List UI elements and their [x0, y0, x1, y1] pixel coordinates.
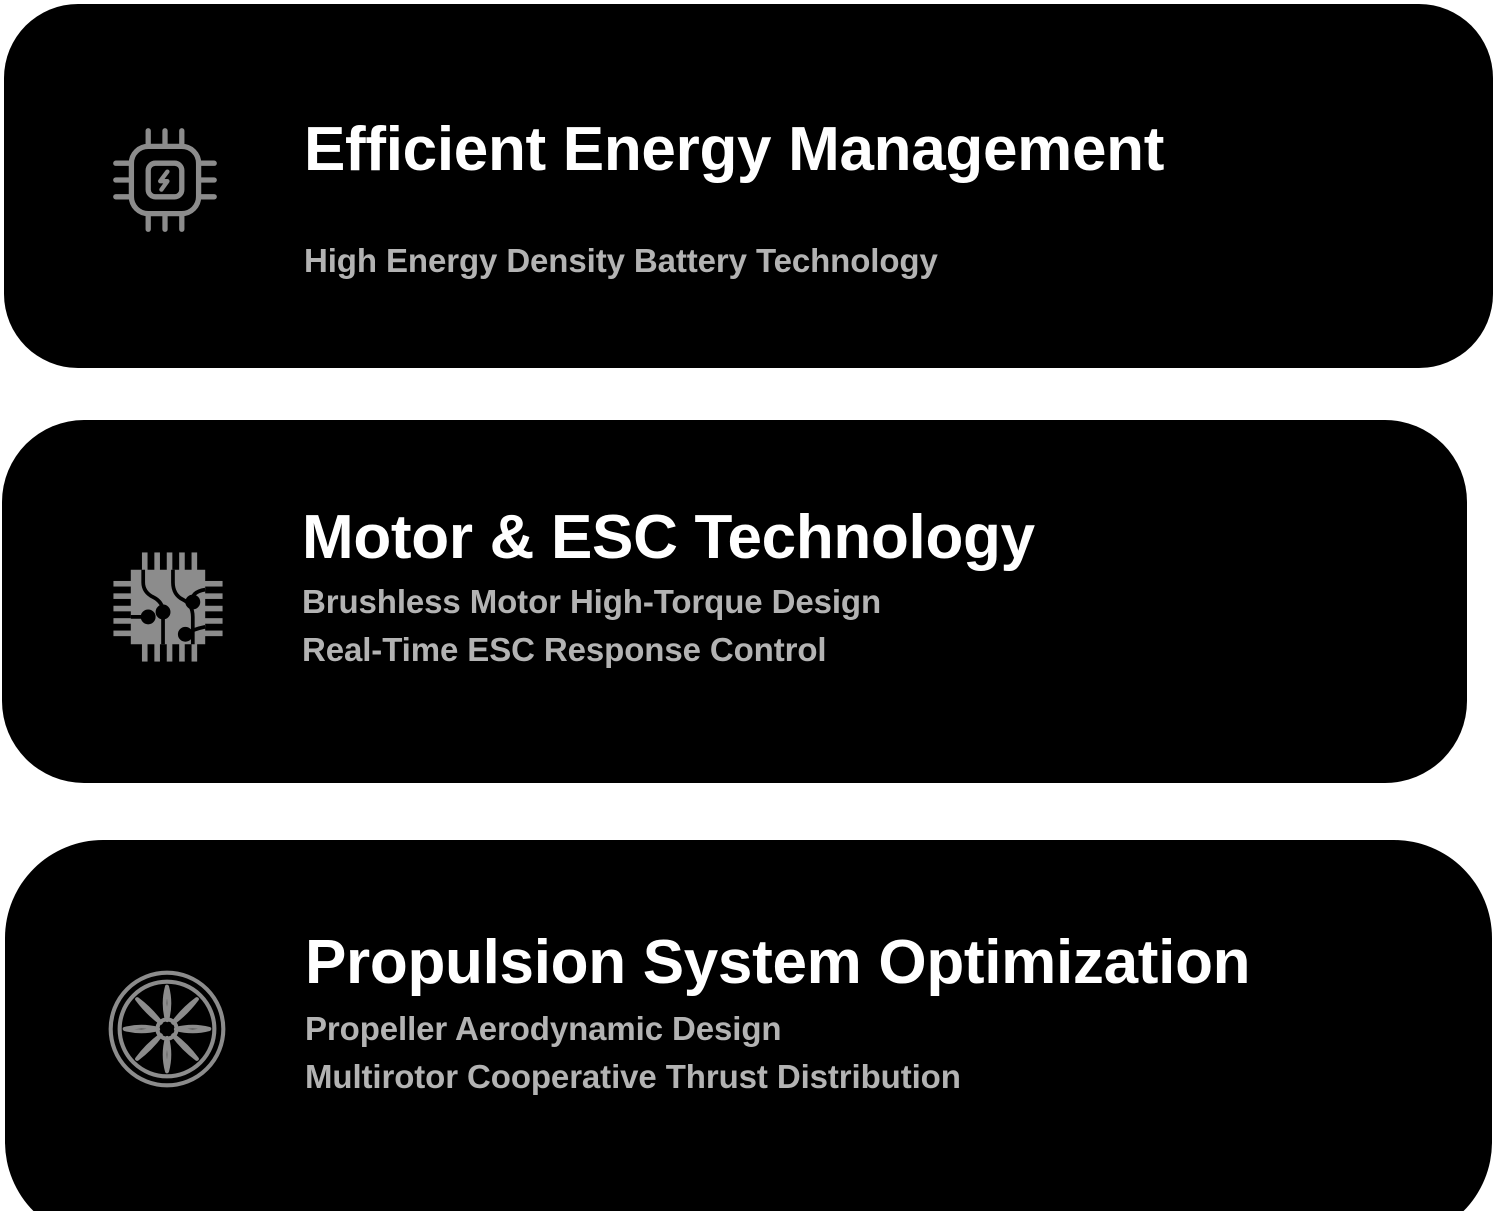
feature-card-stack: Efficient Energy Management High Energy … — [0, 0, 1497, 1211]
card-subtitle: Propeller Aerodynamic Design — [305, 1005, 1250, 1053]
card-subtitle-list: Brushless Motor High-Torque Design Real-… — [302, 578, 1035, 674]
cpu-power-chip-icon — [105, 120, 225, 240]
feature-card-motor-esc-technology[interactable]: Motor & ESC Technology Brushless Motor H… — [2, 420, 1467, 783]
card-title: Motor & ESC Technology — [302, 505, 1035, 572]
feature-card-propulsion-system-optimization[interactable]: Propulsion System Optimization Propeller… — [5, 840, 1492, 1211]
card-text-block: Motor & ESC Technology Brushless Motor H… — [302, 505, 1035, 674]
card-text-block: Propulsion System Optimization Propeller… — [305, 930, 1250, 1101]
card-subtitle-list: Propeller Aerodynamic Design Multirotor … — [305, 1005, 1250, 1101]
card-title: Efficient Energy Management — [304, 117, 1164, 184]
card-title: Propulsion System Optimization — [305, 930, 1250, 997]
card-subtitle: Multirotor Cooperative Thrust Distributi… — [305, 1053, 1250, 1101]
circuit-chip-icon — [106, 545, 230, 669]
propeller-fan-icon — [103, 965, 231, 1093]
card-subtitle: Real-Time ESC Response Control — [302, 626, 1035, 674]
feature-card-efficient-energy-management[interactable]: Efficient Energy Management High Energy … — [4, 4, 1493, 368]
card-subtitle-list: High Energy Density Battery Technology — [304, 237, 1164, 285]
card-text-block: Efficient Energy Management High Energy … — [304, 117, 1164, 285]
card-subtitle: Brushless Motor High-Torque Design — [302, 578, 1035, 626]
card-subtitle: High Energy Density Battery Technology — [304, 237, 1164, 285]
